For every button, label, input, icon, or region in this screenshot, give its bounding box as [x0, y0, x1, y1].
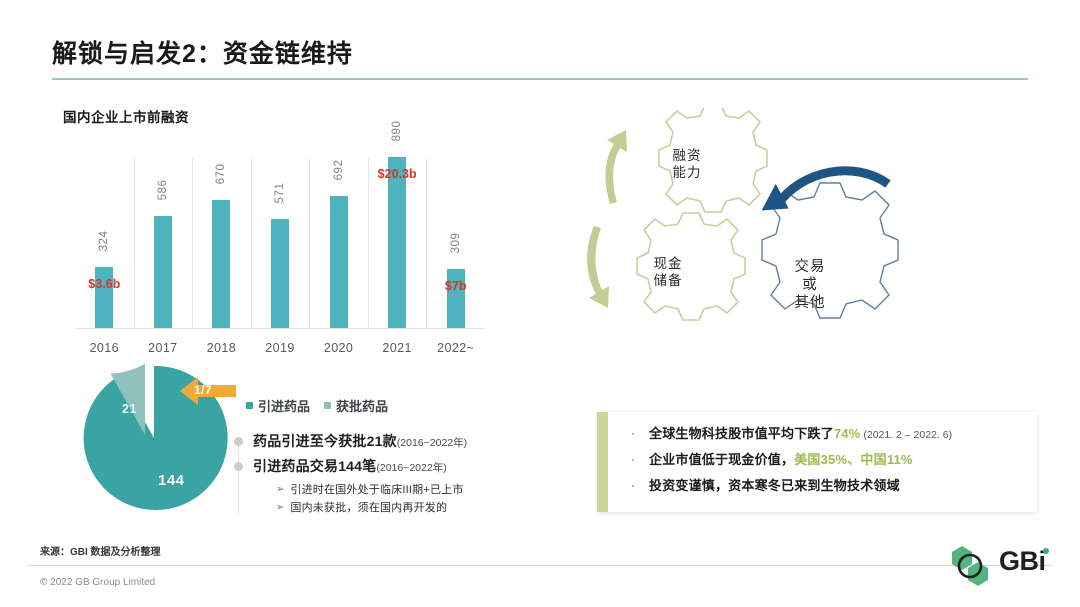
gbi-logo-mark-icon — [946, 542, 996, 588]
bar-category-label: 2020 — [309, 341, 368, 355]
legend-label: 引进药品 — [258, 396, 310, 415]
arrow-up-icon — [605, 130, 627, 204]
callout-row: ·全球生物科技股市值平均下跌了74% (2021. 2 – 2022. 6) — [631, 426, 1027, 443]
bullet-text: 引进药品交易144笔(2016~2022年) — [253, 457, 447, 476]
arrow-bullet-icon: ➢ — [276, 500, 284, 515]
callout-text-trail: (2021. 2 – 2022. 6) — [860, 429, 952, 441]
bar[interactable] — [388, 157, 406, 329]
gear-bl-label-line1: 现金 — [654, 256, 683, 271]
bar-value-label: 571 — [274, 183, 286, 204]
gear-top-label-line2: 能力 — [673, 165, 702, 180]
pie-slice-value-21: 21 — [122, 402, 137, 416]
copyright-note: © 2022 GB Group Limited — [40, 577, 155, 588]
callout-text-lead: 投资变谨慎，资本寒冬已来到生物技术领域 — [649, 478, 900, 493]
gear-top-label: 融资 能力 — [646, 148, 728, 182]
bullet-paren-text: (2016~2022年) — [376, 462, 446, 474]
gbi-logo: GBi — [946, 538, 1052, 590]
bar-annotation-label: $20.3b — [378, 167, 417, 181]
gear-right-label-line3: 其他 — [795, 295, 826, 311]
callout-text-highlight: 美国35%、中国11% — [794, 452, 913, 467]
sub-item-text: 国内未获批，须在国内再开发的 — [290, 500, 447, 517]
bar-chart-category-axis: 2016201720182019202020212022~ — [75, 333, 485, 355]
bar-chart-plot-area: 324$3.6b586670571692890$20.3b309$7b — [75, 140, 485, 329]
arrow-down-icon — [587, 226, 609, 308]
bar-category-label: 2022~ — [426, 341, 485, 355]
gears-svg — [570, 108, 900, 373]
callout-bullet-icon: · — [631, 478, 635, 493]
list-item: 引进药品交易144笔(2016~2022年) — [228, 457, 558, 476]
bar-slot: 309$7b — [426, 140, 485, 329]
callout-bullet-icon: · — [631, 452, 635, 467]
bar-value-label: 586 — [157, 180, 169, 201]
callout-list: ·全球生物科技股市值平均下跌了74% (2021. 2 – 2022. 6)·企… — [631, 426, 1027, 504]
bullet-connector-line — [238, 442, 239, 515]
gear-bottom-left-label: 现金 储备 — [628, 256, 708, 290]
chart-baseline — [75, 328, 485, 329]
pie-slice-value-144: 144 — [158, 472, 185, 489]
pie-chart: 144 21 1/7 — [78, 362, 230, 514]
page-title: 解锁与启发2：资金链维持 — [52, 34, 353, 70]
callout-text-lead: 全球生物科技股市值平均下跌了 — [649, 426, 834, 441]
bullet-main-text: 药品引进至今获批21款 — [253, 433, 397, 449]
bullet-list: 药品引进至今获批21款(2016~2022年) 引进药品交易144笔(2016~… — [228, 432, 558, 519]
bar-slot: 324$3.6b — [75, 140, 134, 329]
callout-text-lead: 企业市值低于现金价值， — [649, 452, 794, 467]
bar-annotation-label: $7b — [445, 279, 467, 293]
bar-category-label: 2017 — [134, 341, 193, 355]
bar[interactable] — [447, 269, 465, 329]
bar-value-label: 890 — [391, 121, 403, 142]
bar[interactable] — [212, 200, 230, 329]
bar-category-label: 2018 — [192, 341, 251, 355]
bar-value-label: 324 — [98, 231, 110, 252]
footer-divider — [28, 565, 1052, 566]
bullet-main-text: 引进药品交易144笔 — [253, 458, 376, 474]
bar-slot: 571 — [251, 140, 310, 329]
title-divider — [52, 78, 1028, 80]
bar-value-label: 670 — [215, 164, 227, 185]
pie-legend: 引进药品获批药品 — [246, 396, 388, 415]
slide: 解锁与启发2：资金链维持 国内企业上市前融资 324$3.6b586670571… — [0, 0, 1080, 607]
callout-text: 企业市值低于现金价值，美国35%、中国11% — [649, 452, 913, 469]
list-item: 药品引进至今获批21款(2016~2022年) — [228, 432, 558, 451]
sub-item-text: 引进时在国外处于临床III期+已上市 — [290, 482, 463, 499]
bar-value-label: 309 — [450, 233, 462, 254]
bar-slot: 670 — [192, 140, 251, 329]
callout-row: ·投资变谨慎，资本寒冬已来到生物技术领域 — [631, 478, 1027, 495]
bar-category-label: 2016 — [75, 341, 134, 355]
callout-box: ·全球生物科技股市值平均下跌了74% (2021. 2 – 2022. 6)·企… — [597, 412, 1037, 512]
bar-value-label: 692 — [333, 160, 345, 181]
bar-category-label: 2021 — [368, 341, 427, 355]
gear-right-label: 交易 或 其他 — [770, 258, 850, 312]
gear-right-label-line1: 交易 — [795, 259, 826, 275]
gbi-logo-gb: GB — [999, 546, 1039, 576]
bullet-paren-text: (2016~2022年) — [397, 437, 467, 449]
bar-slot: 692 — [309, 140, 368, 329]
bar-annotation-label: $3.6b — [88, 277, 120, 291]
bar-slot: 890$20.3b — [368, 140, 427, 329]
legend-label: 获批药品 — [336, 396, 388, 415]
callout-text-highlight: 74% — [834, 426, 861, 441]
callout-text: 全球生物科技股市值平均下跌了74% (2021. 2 – 2022. 6) — [649, 426, 952, 443]
sub-list-item: ➢ 引进时在国外处于临床III期+已上市 — [276, 482, 558, 499]
arrow-bullet-icon: ➢ — [276, 482, 284, 497]
arrow-arc-icon — [760, 171, 888, 222]
bar-chart: 324$3.6b586670571692890$20.3b309$7b 2016… — [60, 140, 485, 355]
bullet-dot-icon — [234, 437, 243, 446]
gear-top-label-line1: 融资 — [673, 148, 702, 163]
bar[interactable] — [271, 219, 289, 329]
bullet-dot-icon — [234, 462, 243, 471]
legend-swatch-icon — [246, 402, 253, 409]
callout-text: 投资变谨慎，资本寒冬已来到生物技术领域 — [649, 478, 900, 495]
chart-section-title: 国内企业上市前融资 — [63, 106, 189, 126]
pie-callout-arrow-icon — [174, 370, 252, 412]
callout-accent-bar — [597, 412, 608, 512]
callout-row: ·企业市值低于现金价值，美国35%、中国11% — [631, 452, 1027, 469]
bullet-text: 药品引进至今获批21款(2016~2022年) — [253, 432, 467, 451]
bar[interactable] — [154, 216, 172, 329]
bar-slot: 586 — [134, 140, 193, 329]
bar-category-label: 2019 — [251, 341, 310, 355]
sub-list-item: ➢ 国内未获批，须在国内再开发的 — [276, 500, 558, 517]
pie-callout-label: 1/7 — [194, 383, 212, 397]
source-note: 来源：GBI 数据及分析整理 — [40, 543, 161, 558]
gears-diagram: 融资 能力 现金 储备 交易 或 其他 — [570, 108, 900, 373]
gear-bl-label-line2: 储备 — [654, 273, 683, 288]
legend-swatch-icon — [324, 402, 331, 409]
legend-item-0[interactable]: 引进药品 — [246, 396, 310, 415]
gbi-logo-dot-icon — [1043, 548, 1049, 554]
callout-bullet-icon: · — [631, 426, 635, 441]
gbi-logo-text: GBi — [999, 546, 1046, 577]
legend-item-1[interactable]: 获批药品 — [324, 396, 388, 415]
bar[interactable] — [330, 196, 348, 329]
gear-right-label-line2: 或 — [802, 277, 818, 293]
